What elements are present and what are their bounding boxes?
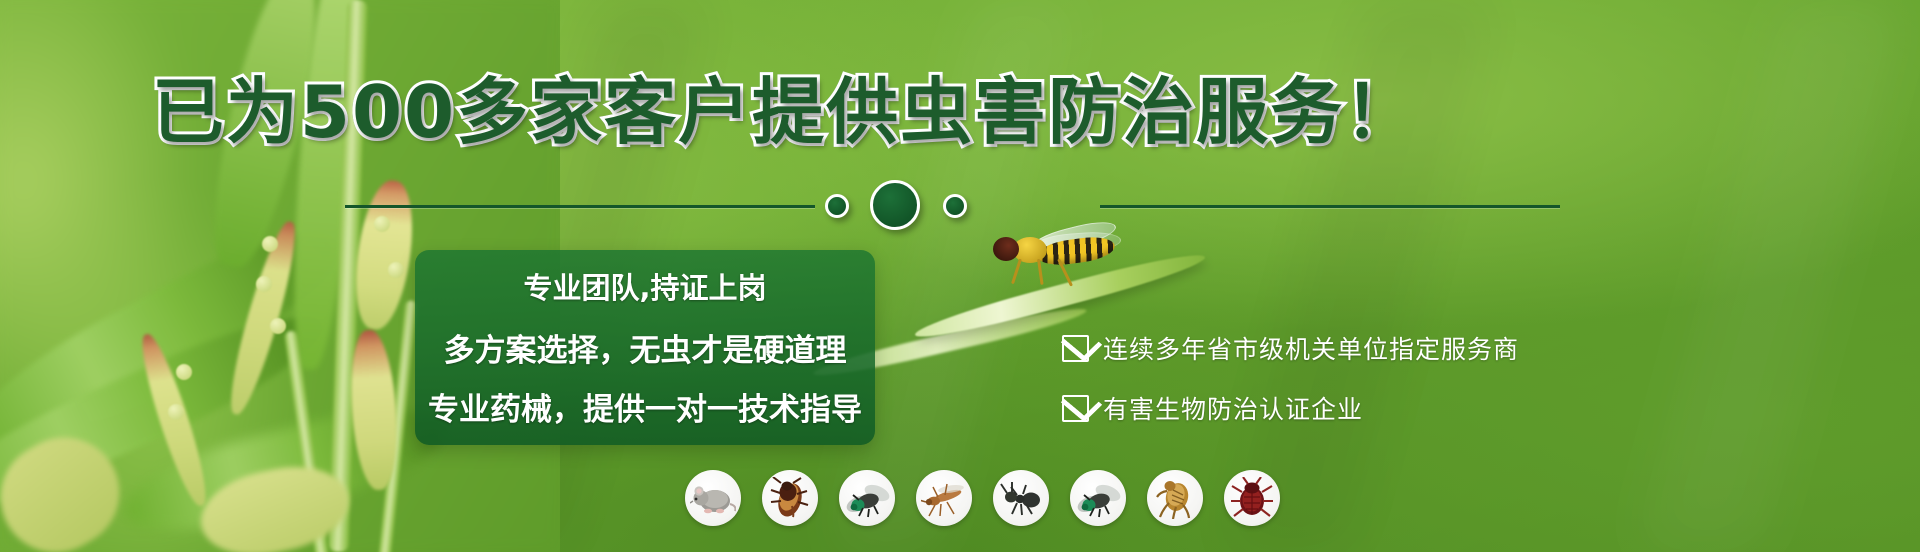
plant-bud [388, 262, 404, 278]
hoverfly-head [993, 237, 1019, 261]
pest-icon-flea[interactable] [1147, 470, 1203, 526]
plant-bud [262, 236, 278, 252]
plant-bud [168, 404, 184, 420]
divider-rule-right [1100, 205, 1560, 208]
ant-icon [999, 478, 1043, 518]
pest-icon-fly[interactable] [839, 470, 895, 526]
pest-icon-mosquito[interactable] [916, 470, 972, 526]
banner-headline: 已为500多家客户提供虫害防治服务！ [0, 76, 1570, 148]
credential-item-label: 有害生物防治认证企业 [1103, 390, 1363, 426]
decor-dot-large-center [870, 180, 920, 230]
fly-icon [844, 478, 890, 518]
hoverfly-leg [1037, 259, 1044, 285]
slogan-panel: 专业团队,持证上岗 多方案选择，无虫才是硬道理 专业药械，提供一对一技术指导 [415, 250, 875, 445]
credential-item: 有害生物防治认证企业 [1062, 390, 1622, 426]
slogan-line-2: 多方案选择，无虫才是硬道理 [444, 325, 847, 370]
pest-icon-cockroach[interactable] [762, 470, 818, 526]
pest-icon-mouse[interactable] [685, 470, 741, 526]
plant-bud [176, 364, 192, 380]
mouse-icon [690, 478, 736, 518]
pest-icon-blowfly[interactable] [1070, 470, 1126, 526]
plant-bud [374, 216, 390, 232]
hoverfly-icon [985, 225, 1125, 285]
pest-icon-bedbug[interactable] [1224, 470, 1280, 526]
blowfly-icon [1075, 478, 1121, 518]
flea-icon [1153, 477, 1197, 519]
pest-control-hero-banner: 已为500多家客户提供虫害防治服务！ 专业团队,持证上岗 多方案选择，无虫才是硬… [0, 0, 1920, 552]
pest-icon-ant[interactable] [993, 470, 1049, 526]
banner-headline-text: 已为500多家客户提供虫害防治服务！ [152, 70, 1418, 154]
decor-dot-small-right [943, 194, 967, 218]
credential-list: 连续多年省市级机关单位指定服务商 有害生物防治认证企业 [1062, 330, 1622, 426]
mosquito-icon [921, 478, 967, 518]
credential-item: 连续多年省市级机关单位指定服务商 [1062, 330, 1622, 366]
hoverfly-leg [1011, 259, 1022, 285]
plant-bud [256, 276, 272, 292]
decor-dot-small-left [825, 194, 849, 218]
credential-item-label: 连续多年省市级机关单位指定服务商 [1103, 330, 1519, 366]
bedbug-icon [1230, 477, 1274, 519]
check-box-icon [1062, 395, 1089, 422]
slogan-line-3: 专业药械，提供一对一技术指导 [428, 384, 862, 429]
slogan-line-1: 专业团队,持证上岗 [523, 265, 766, 307]
check-box-icon [1062, 335, 1089, 362]
cockroach-icon [768, 477, 812, 519]
pest-type-icon-row [685, 470, 1280, 526]
plant-bud [270, 318, 286, 334]
divider-rule-left [345, 205, 815, 208]
